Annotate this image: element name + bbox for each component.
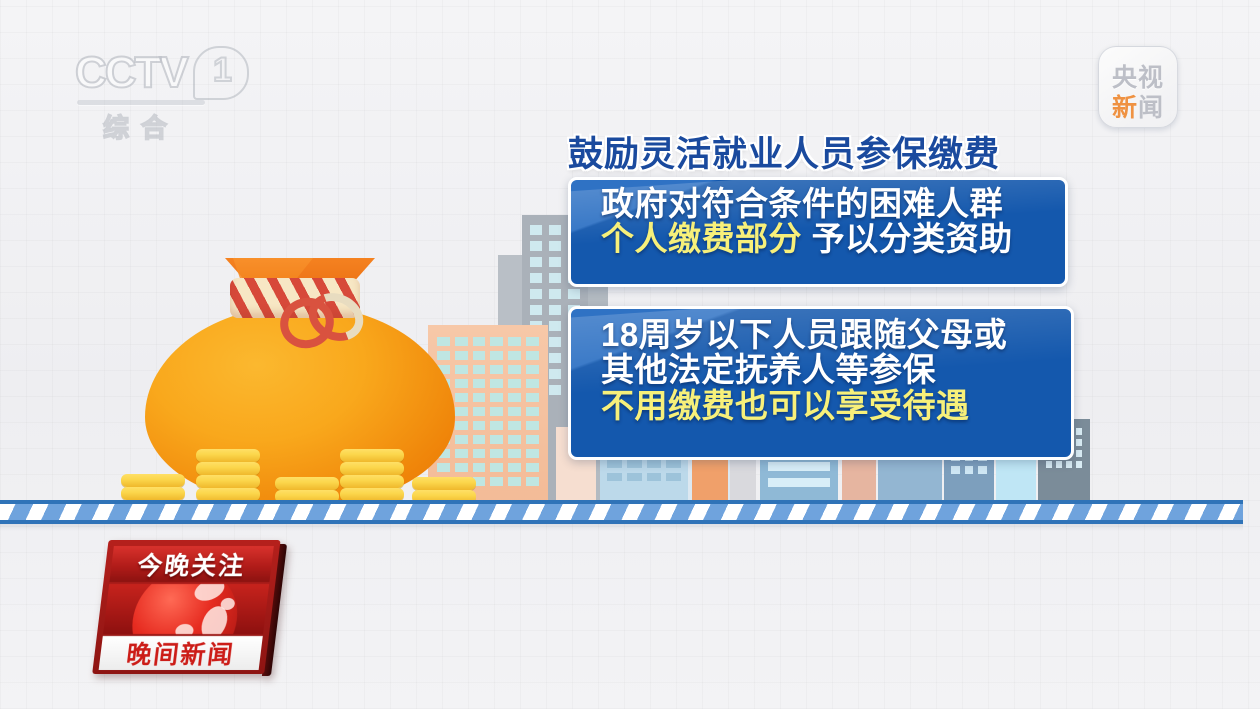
card1-line1: 政府对符合条件的困难人群 [601, 186, 1065, 221]
card2-line3-highlight: 不用缴费也可以享受待遇 [601, 388, 1071, 423]
cctv1-logo: CCTV 1 综合 [75, 48, 250, 133]
ground-shadow [0, 524, 1243, 531]
news-badge-wen: 闻 [1138, 94, 1164, 122]
cctv-channel-number: 1 [213, 51, 232, 90]
cctv-channel-number-badge: 1 [193, 46, 249, 100]
program-bug-bottom-label: 晚间新闻 [124, 635, 236, 671]
money-bag-icon [120, 250, 480, 505]
info-card-minors: 18周岁以下人员跟随父母或 其他法定抚养人等参保 不用缴费也可以享受待遇 [568, 306, 1074, 460]
cctv-subtitle: 综合 [103, 108, 179, 145]
striped-ground-bar [0, 500, 1243, 524]
page-title: 鼓励灵活就业人员参保缴费 [568, 126, 1000, 177]
broadcast-frame: 鼓励灵活就业人员参保缴费 政府对符合条件的困难人群 个人缴费部分 予以分类资助 … [0, 0, 1260, 709]
card2-line1: 18周岁以下人员跟随父母或 [601, 317, 1071, 352]
cctv-wordmark: CCTV [75, 48, 187, 98]
news-badge-line2: 新闻 [1099, 88, 1177, 124]
program-bug-top-label: 今晚关注 [135, 546, 247, 582]
program-bug-top-banner: 今晚关注 [109, 546, 273, 582]
globe-icon [103, 584, 269, 634]
cctv-news-badge: 央视 新闻 [1098, 46, 1178, 128]
card1-line2-rest: 予以分类资助 [802, 220, 1013, 257]
card1-highlight: 个人缴费部分 [601, 220, 802, 257]
news-badge-xin: 新 [1112, 94, 1138, 122]
cctv-underline [77, 100, 205, 105]
card1-line2: 个人缴费部分 予以分类资助 [601, 221, 1065, 256]
card2-line2: 其他法定抚养人等参保 [601, 352, 1071, 387]
info-card-subsidy: 政府对符合条件的困难人群 个人缴费部分 予以分类资助 [568, 177, 1068, 287]
program-bug: 今晚关注 晚间新闻 [91, 540, 288, 680]
program-bug-bottom-banner: 晚间新闻 [99, 636, 263, 670]
globe-sphere [126, 584, 243, 634]
